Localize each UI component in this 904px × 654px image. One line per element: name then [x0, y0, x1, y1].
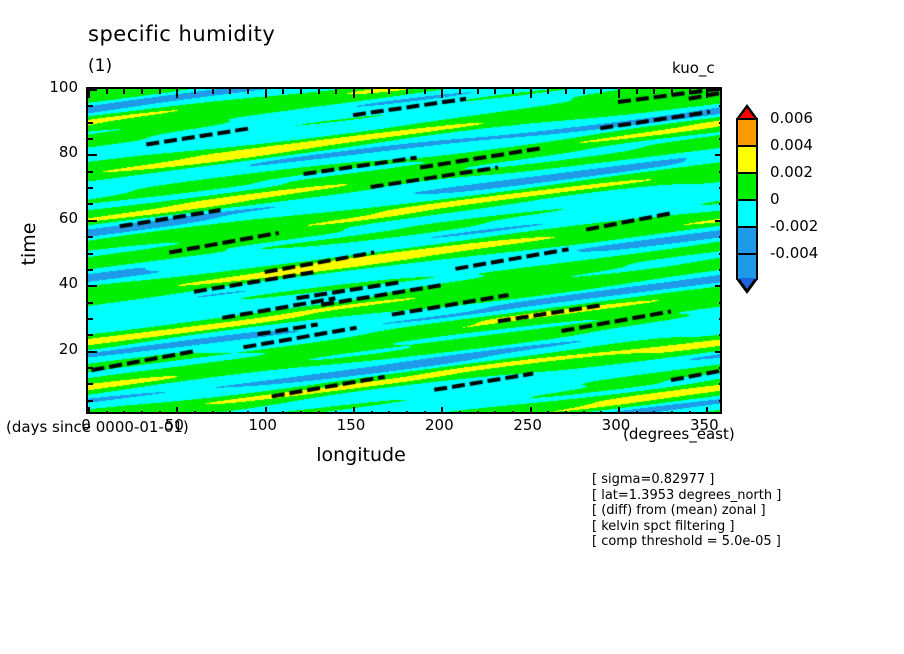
- colorbar-bands: [736, 118, 758, 280]
- axis-tick-mark: [88, 383, 93, 385]
- axis-tick-mark: [547, 89, 549, 94]
- axis-tick-mark: [88, 187, 93, 189]
- axis-tick-mark: [106, 89, 108, 94]
- axis-tick-mark: [88, 171, 93, 173]
- annotation-block: [ sigma=0.82977 ][ lat=1.3953 degrees_no…: [592, 472, 781, 550]
- axis-tick-mark: [706, 89, 708, 98]
- axis-tick-mark: [88, 138, 93, 140]
- axis-tick-mark: [88, 203, 93, 205]
- colorbar-tick-label: 0.002: [770, 163, 813, 181]
- axis-tick-mark: [88, 351, 97, 353]
- axis-tick-mark: [88, 285, 97, 287]
- axis-tick-mark: [194, 89, 196, 94]
- axis-tick-mark: [159, 89, 161, 94]
- axis-tick-mark: [88, 236, 93, 238]
- contour-plot-area: [86, 87, 722, 414]
- y-tick-label: 80: [59, 143, 78, 161]
- axis-tick-mark: [176, 89, 178, 98]
- colorbar-band: [738, 120, 756, 147]
- colorbar-band: [738, 174, 756, 201]
- axis-tick-mark: [600, 89, 602, 94]
- axis-tick-mark: [424, 89, 426, 94]
- axis-tick-mark: [265, 89, 267, 98]
- axis-tick-mark: [88, 154, 97, 156]
- axis-tick-mark: [88, 253, 93, 255]
- axis-tick-mark: [88, 334, 93, 336]
- y-axis-units-label: (days since 0000-01-01): [6, 418, 189, 436]
- axis-tick-mark: [494, 89, 496, 94]
- axis-tick-mark: [318, 89, 320, 94]
- axis-tick-mark: [88, 122, 93, 124]
- axis-tick-mark: [530, 89, 532, 98]
- colorbar: 0.0060.0040.0020-0.002-0.004: [730, 104, 900, 294]
- x-axis-title: longitude: [316, 444, 406, 466]
- axis-tick-mark: [671, 89, 673, 94]
- axis-tick-mark: [141, 89, 143, 94]
- axis-tick-mark: [459, 89, 461, 94]
- axis-tick-mark: [689, 89, 691, 94]
- axis-tick-mark: [247, 89, 249, 94]
- y-axis-title: time: [18, 199, 40, 289]
- axis-tick-mark: [229, 89, 231, 94]
- axis-tick-mark: [88, 105, 93, 107]
- axis-tick-mark: [88, 89, 97, 91]
- x-tick-label: 250: [513, 416, 542, 434]
- x-tick-label: 200: [425, 416, 454, 434]
- x-tick-label: 150: [337, 416, 366, 434]
- y-tick-label: 100: [49, 78, 78, 96]
- colorbar-tick-label: -0.004: [770, 244, 818, 262]
- axis-tick-mark: [212, 89, 214, 94]
- axis-tick-mark: [388, 89, 390, 94]
- axis-tick-mark: [282, 89, 284, 94]
- axis-tick-mark: [618, 89, 620, 98]
- axis-tick-mark: [88, 400, 93, 402]
- axis-tick-mark: [636, 89, 638, 94]
- y-tick-label: 40: [59, 274, 78, 292]
- axis-tick-mark: [88, 269, 93, 271]
- axis-tick-mark: [123, 89, 125, 94]
- axis-tick-mark: [583, 89, 585, 94]
- colorbar-tick-label: 0: [770, 190, 780, 208]
- dataset-label: kuo_c: [672, 59, 715, 77]
- colorbar-band: [738, 147, 756, 174]
- axis-tick-mark: [477, 89, 479, 94]
- colorbar-tick-label: 0.004: [770, 136, 813, 154]
- colorbar-tick-label: -0.002: [770, 217, 818, 235]
- colorbar-under-arrow-fill: [739, 278, 755, 289]
- colorbar-band: [738, 228, 756, 255]
- plot-subtitle: (1): [88, 56, 112, 76]
- axis-tick-mark: [300, 89, 302, 94]
- page-title: specific humidity: [88, 22, 275, 46]
- axis-tick-mark: [371, 89, 373, 94]
- x-axis-units-label: (degrees_east): [623, 425, 735, 443]
- axis-tick-mark: [88, 302, 93, 304]
- y-tick-label: 60: [59, 209, 78, 227]
- hovmoller-field-canvas: [88, 89, 722, 414]
- axis-tick-mark: [653, 89, 655, 94]
- axis-tick-mark: [441, 89, 443, 98]
- colorbar-tick-label: 0.006: [770, 109, 813, 127]
- annotation-line: [ lat=1.3953 degrees_north ]: [592, 488, 781, 504]
- annotation-line: [ sigma=0.82977 ]: [592, 472, 781, 488]
- axis-tick-mark: [88, 318, 93, 320]
- axis-tick-mark: [512, 89, 514, 94]
- axis-tick-mark: [88, 220, 97, 222]
- annotation-line: [ (diff) from (mean) zonal ]: [592, 503, 781, 519]
- annotation-line: [ comp threshold = 5.0e-05 ]: [592, 534, 781, 550]
- x-tick-label: 100: [248, 416, 277, 434]
- axis-tick-mark: [88, 367, 93, 369]
- colorbar-band: [738, 201, 756, 228]
- axis-tick-mark: [335, 89, 337, 94]
- axis-tick-mark: [406, 89, 408, 94]
- axis-tick-mark: [353, 89, 355, 98]
- y-tick-label: 20: [59, 340, 78, 358]
- annotation-line: [ kelvin spct filtering ]: [592, 519, 781, 535]
- axis-tick-mark: [565, 89, 567, 94]
